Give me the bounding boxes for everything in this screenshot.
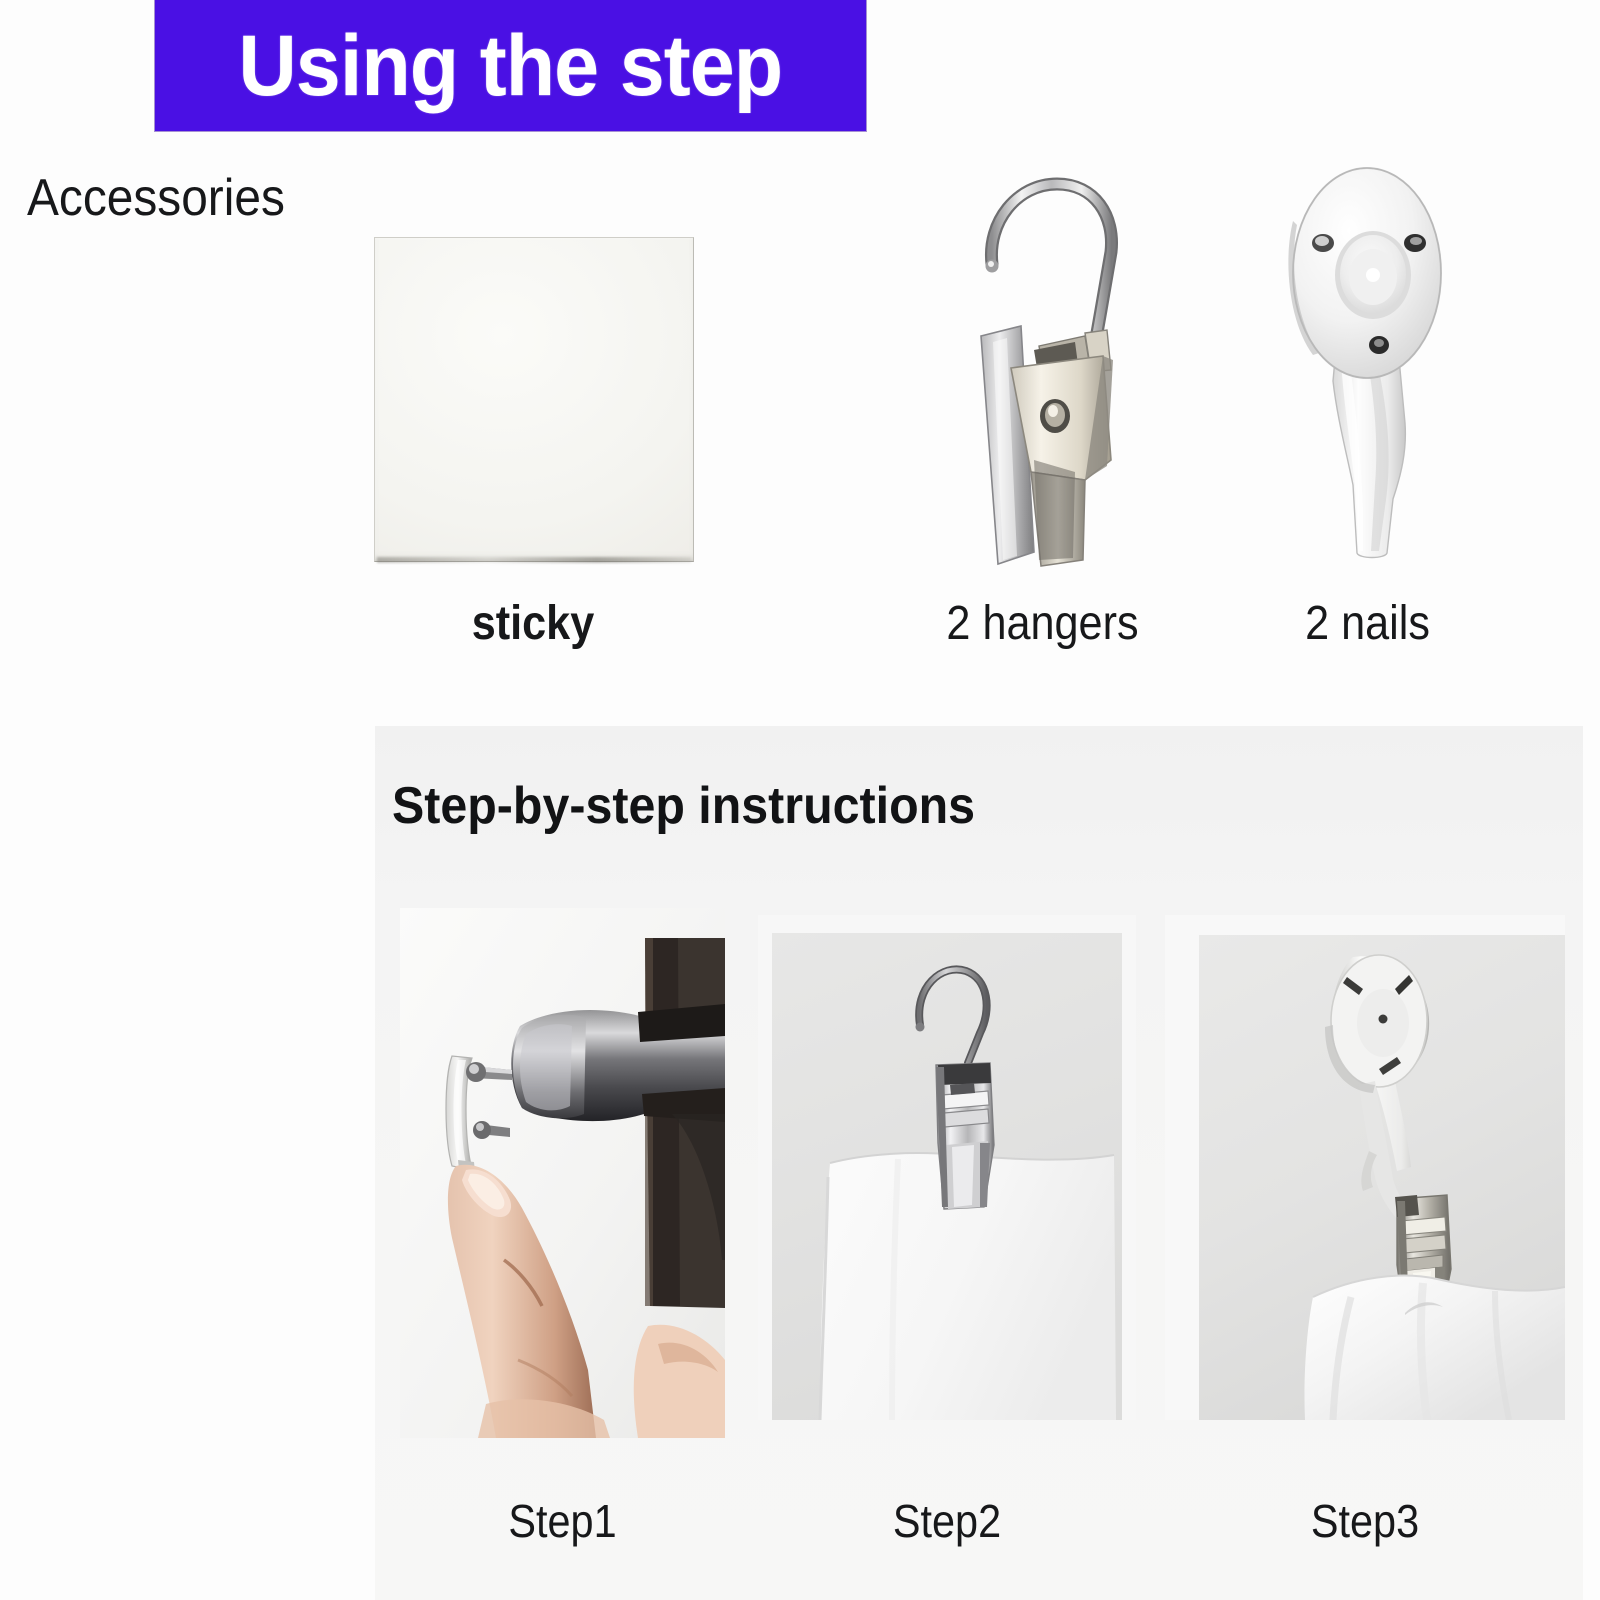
white-wall-hook-icon xyxy=(1275,155,1460,565)
accessory-label-sticky: sticky xyxy=(390,600,676,648)
accessories-row: sticky xyxy=(0,0,1600,690)
step3-photo xyxy=(1165,915,1565,1420)
steps-section-heading: Step-by-step instructions xyxy=(392,776,975,836)
step2-photo xyxy=(758,915,1136,1420)
step1-photo xyxy=(400,908,725,1438)
adhesive-pad-icon xyxy=(374,237,694,562)
accessory-label-nails: 2 nails xyxy=(1253,600,1483,648)
step-label-1: Step1 xyxy=(416,1498,709,1544)
accessory-label-hangers: 2 hangers xyxy=(910,600,1176,648)
metal-clip-hanger-icon xyxy=(935,160,1150,570)
step-label-2: Step2 xyxy=(777,1498,1117,1544)
step-label-3: Step3 xyxy=(1185,1498,1545,1544)
